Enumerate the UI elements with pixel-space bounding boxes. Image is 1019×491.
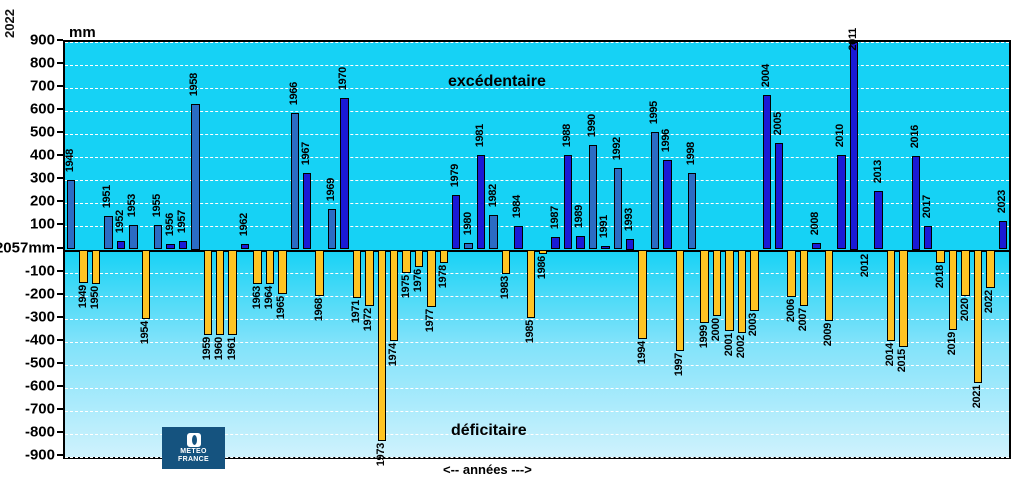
bar-label-1958: 1958 — [189, 73, 200, 96]
bar-label-1979: 1979 — [450, 164, 461, 187]
bar-2022 — [986, 250, 994, 288]
bar-label-2011: 2011 — [848, 28, 859, 51]
bar-label-1957: 1957 — [177, 210, 188, 233]
bar-1981 — [477, 155, 485, 250]
bar-label-2008: 2008 — [810, 212, 821, 235]
bar-2014 — [887, 250, 895, 341]
bar-1974 — [390, 250, 398, 341]
bar-1970 — [340, 98, 348, 249]
gridline — [65, 365, 1009, 366]
bar-1958 — [191, 104, 199, 249]
bar-2012 — [862, 250, 870, 252]
y-axis-tick-label: -100 — [25, 262, 55, 279]
meteo-france-logo: METEO FRANCE — [162, 427, 225, 469]
bar-label-1974: 1974 — [388, 343, 399, 366]
bar-label-2016: 2016 — [910, 125, 921, 148]
bar-label-1999: 1999 — [699, 325, 710, 348]
bar-1971 — [353, 250, 361, 298]
bar-1951 — [104, 216, 112, 249]
bar-2017 — [924, 226, 932, 249]
bar-label-1976: 1976 — [413, 269, 424, 292]
bar-1953 — [129, 225, 137, 249]
bar-label-1969: 1969 — [326, 178, 337, 201]
bar-1959 — [204, 250, 212, 335]
bar-label-1972: 1972 — [363, 308, 374, 331]
bar-label-1963: 1963 — [252, 286, 263, 309]
bar-1984 — [514, 226, 522, 249]
y-axis-tick-label: 200 — [30, 193, 55, 210]
bar-1967 — [303, 173, 311, 249]
bar-2008 — [812, 243, 820, 250]
bar-label-1955: 1955 — [152, 194, 163, 217]
bar-2020 — [961, 250, 969, 296]
bar-label-1986: 1986 — [537, 256, 548, 279]
y-axis: 9008007006005004003002001002057mm-100-20… — [0, 40, 63, 459]
gridline — [65, 134, 1009, 135]
corner-year-label: 2022 — [2, 0, 24, 38]
y-axis-tick-label: -600 — [25, 377, 55, 394]
bar-label-1950: 1950 — [90, 286, 101, 309]
bar-2007 — [800, 250, 808, 306]
bar-1968 — [315, 250, 323, 296]
bar-1980 — [464, 243, 472, 250]
gridline — [65, 42, 1009, 43]
bar-1999 — [700, 250, 708, 324]
bar-label-2007: 2007 — [798, 308, 809, 331]
gridline — [65, 388, 1009, 389]
bar-label-1983: 1983 — [500, 276, 511, 299]
y-axis-tick-label: -700 — [25, 400, 55, 417]
bar-2023 — [999, 221, 1007, 250]
bar-2016 — [912, 156, 920, 249]
bar-label-1961: 1961 — [227, 337, 238, 360]
bar-label-1980: 1980 — [463, 212, 474, 235]
meteo-france-mark-icon — [187, 433, 201, 447]
bar-label-1989: 1989 — [574, 205, 585, 228]
chart-page: 2022 mm 9008007006005004003002001002057m… — [0, 0, 1019, 491]
bar-1964 — [266, 250, 274, 285]
bar-1949 — [79, 250, 87, 283]
bar-1962 — [241, 244, 249, 250]
bar-label-1970: 1970 — [338, 67, 349, 90]
bar-label-2012: 2012 — [860, 254, 871, 277]
bar-1983 — [502, 250, 510, 274]
bar-label-2021: 2021 — [972, 385, 983, 408]
bar-1994 — [638, 250, 646, 340]
bar-label-1967: 1967 — [301, 142, 312, 165]
y-axis-tick-label: -200 — [25, 285, 55, 302]
y-axis-tick-label: -500 — [25, 354, 55, 371]
bar-label-2006: 2006 — [786, 299, 797, 322]
bar-label-2020: 2020 — [960, 298, 971, 321]
bar-label-1948: 1948 — [65, 149, 76, 172]
bar-1975 — [402, 250, 410, 273]
gridline — [65, 226, 1009, 227]
gridline — [65, 180, 1009, 181]
bar-label-2018: 2018 — [935, 265, 946, 288]
bar-2019 — [949, 250, 957, 331]
y-axis-tick-label: 900 — [30, 32, 55, 49]
bar-1989 — [576, 236, 584, 250]
y-axis-tick-label: 100 — [30, 216, 55, 233]
bar-label-1968: 1968 — [314, 298, 325, 321]
bar-label-1953: 1953 — [127, 194, 138, 217]
bar-label-2005: 2005 — [773, 112, 784, 135]
annotation-deficit: déficitaire — [451, 422, 527, 440]
bar-label-2019: 2019 — [947, 332, 958, 355]
bar-label-1991: 1991 — [599, 215, 610, 238]
bar-label-2017: 2017 — [922, 195, 933, 218]
y-axis-tick-label: 400 — [30, 147, 55, 164]
y-axis-tick-label: 600 — [30, 101, 55, 118]
bar-1954 — [142, 250, 150, 319]
bar-label-2001: 2001 — [724, 333, 735, 356]
bar-label-1951: 1951 — [102, 185, 113, 208]
y-axis-tick-label: 800 — [30, 55, 55, 72]
bar-label-1981: 1981 — [475, 124, 486, 147]
bar-1960 — [216, 250, 224, 335]
gridline — [65, 111, 1009, 112]
bar-1952 — [117, 241, 125, 249]
bar-1985 — [527, 250, 535, 318]
bar-2005 — [775, 143, 783, 249]
bar-1978 — [440, 250, 448, 264]
bar-label-1996: 1996 — [661, 129, 672, 152]
bar-label-1994: 1994 — [637, 341, 648, 364]
bar-label-1949: 1949 — [78, 285, 89, 308]
bar-label-1971: 1971 — [351, 300, 362, 323]
y-axis-tick-label: -800 — [25, 423, 55, 440]
bar-label-1965: 1965 — [276, 296, 287, 319]
bar-1963 — [253, 250, 261, 285]
plot-area: 1948194919501951195219531954195519561957… — [63, 40, 1011, 459]
bar-1988 — [564, 155, 572, 250]
bar-1992 — [614, 168, 622, 250]
bar-label-2013: 2013 — [873, 160, 884, 183]
bar-2011 — [850, 42, 858, 250]
y-axis-unit-label: mm — [69, 24, 96, 41]
bar-label-1992: 1992 — [612, 137, 623, 160]
bar-label-1993: 1993 — [624, 208, 635, 231]
bar-label-2003: 2003 — [748, 313, 759, 336]
bar-label-1960: 1960 — [214, 337, 225, 360]
bar-2009 — [825, 250, 833, 321]
bar-label-1995: 1995 — [649, 101, 660, 124]
bar-label-1987: 1987 — [550, 206, 561, 229]
bar-2002 — [738, 250, 746, 333]
bar-1987 — [551, 237, 559, 250]
bar-1955 — [154, 225, 162, 249]
bar-label-2000: 2000 — [711, 318, 722, 341]
bar-1997 — [676, 250, 684, 351]
bar-1995 — [651, 132, 659, 250]
bar-label-1997: 1997 — [674, 353, 685, 376]
bar-2001 — [725, 250, 733, 332]
bar-label-1975: 1975 — [401, 275, 412, 298]
x-axis-label: <-- années ---> — [443, 462, 532, 477]
bar-2003 — [750, 250, 758, 311]
y-axis-tick-label: 700 — [30, 78, 55, 95]
gridline — [65, 157, 1009, 158]
bar-label-1998: 1998 — [686, 142, 697, 165]
logo-line-2: FRANCE — [178, 456, 209, 464]
bar-2000 — [713, 250, 721, 317]
bar-label-2022: 2022 — [984, 290, 995, 313]
annotation-surplus: excédentaire — [448, 73, 546, 91]
bar-label-2014: 2014 — [885, 343, 896, 366]
bar-label-2004: 2004 — [761, 64, 772, 87]
bar-label-2015: 2015 — [897, 349, 908, 372]
y-axis-tick-label: 300 — [30, 170, 55, 187]
bar-1991 — [601, 246, 609, 249]
bar-label-1966: 1966 — [289, 82, 300, 105]
bar-1998 — [688, 173, 696, 249]
bar-label-1952: 1952 — [115, 210, 126, 233]
bar-2021 — [974, 250, 982, 384]
y-axis-tick-label: -900 — [25, 447, 55, 464]
y-axis-tick-label: 500 — [30, 124, 55, 141]
bar-1957 — [179, 241, 187, 249]
bar-1972 — [365, 250, 373, 306]
bar-2013 — [874, 191, 882, 250]
bar-1948 — [67, 180, 75, 249]
bar-label-2009: 2009 — [823, 323, 834, 346]
bar-label-1985: 1985 — [525, 320, 536, 343]
bar-label-1962: 1962 — [239, 213, 250, 236]
bar-1961 — [228, 250, 236, 335]
bar-1969 — [328, 209, 336, 249]
bar-label-1956: 1956 — [165, 213, 176, 236]
bar-1973 — [378, 250, 386, 441]
bar-1977 — [427, 250, 435, 308]
bar-1979 — [452, 195, 460, 249]
y-axis-baseline-label: 2057mm — [0, 239, 55, 256]
logo-line-1: METEO — [180, 448, 206, 456]
bar-label-1964: 1964 — [264, 286, 275, 309]
bar-1990 — [589, 145, 597, 250]
bar-label-1984: 1984 — [512, 195, 523, 218]
bar-label-1973: 1973 — [376, 443, 387, 466]
bar-label-2010: 2010 — [835, 124, 846, 147]
bar-1965 — [278, 250, 286, 295]
bar-2004 — [763, 95, 771, 249]
bar-2010 — [837, 155, 845, 250]
bar-2018 — [936, 250, 944, 264]
bar-1986 — [539, 250, 547, 255]
bar-label-2002: 2002 — [736, 335, 747, 358]
gridline — [65, 411, 1009, 412]
bar-label-1988: 1988 — [562, 124, 573, 147]
bar-1956 — [166, 244, 174, 250]
bar-1996 — [663, 160, 671, 250]
bar-label-1978: 1978 — [438, 265, 449, 288]
bar-1976 — [415, 250, 423, 267]
y-axis-tick-label: -300 — [25, 308, 55, 325]
bar-label-1982: 1982 — [488, 184, 499, 207]
bar-label-1959: 1959 — [202, 337, 213, 360]
bar-label-1954: 1954 — [140, 321, 151, 344]
gridline — [65, 65, 1009, 66]
bar-2006 — [787, 250, 795, 297]
bar-label-2023: 2023 — [997, 190, 1008, 213]
bar-1993 — [626, 239, 634, 249]
bar-1982 — [489, 215, 497, 250]
bar-2015 — [899, 250, 907, 348]
gridline — [65, 203, 1009, 204]
bar-1950 — [92, 250, 100, 285]
bar-label-1990: 1990 — [587, 114, 598, 137]
bar-1966 — [291, 113, 299, 249]
y-axis-tick-label: -400 — [25, 331, 55, 348]
bar-label-1977: 1977 — [425, 309, 436, 332]
